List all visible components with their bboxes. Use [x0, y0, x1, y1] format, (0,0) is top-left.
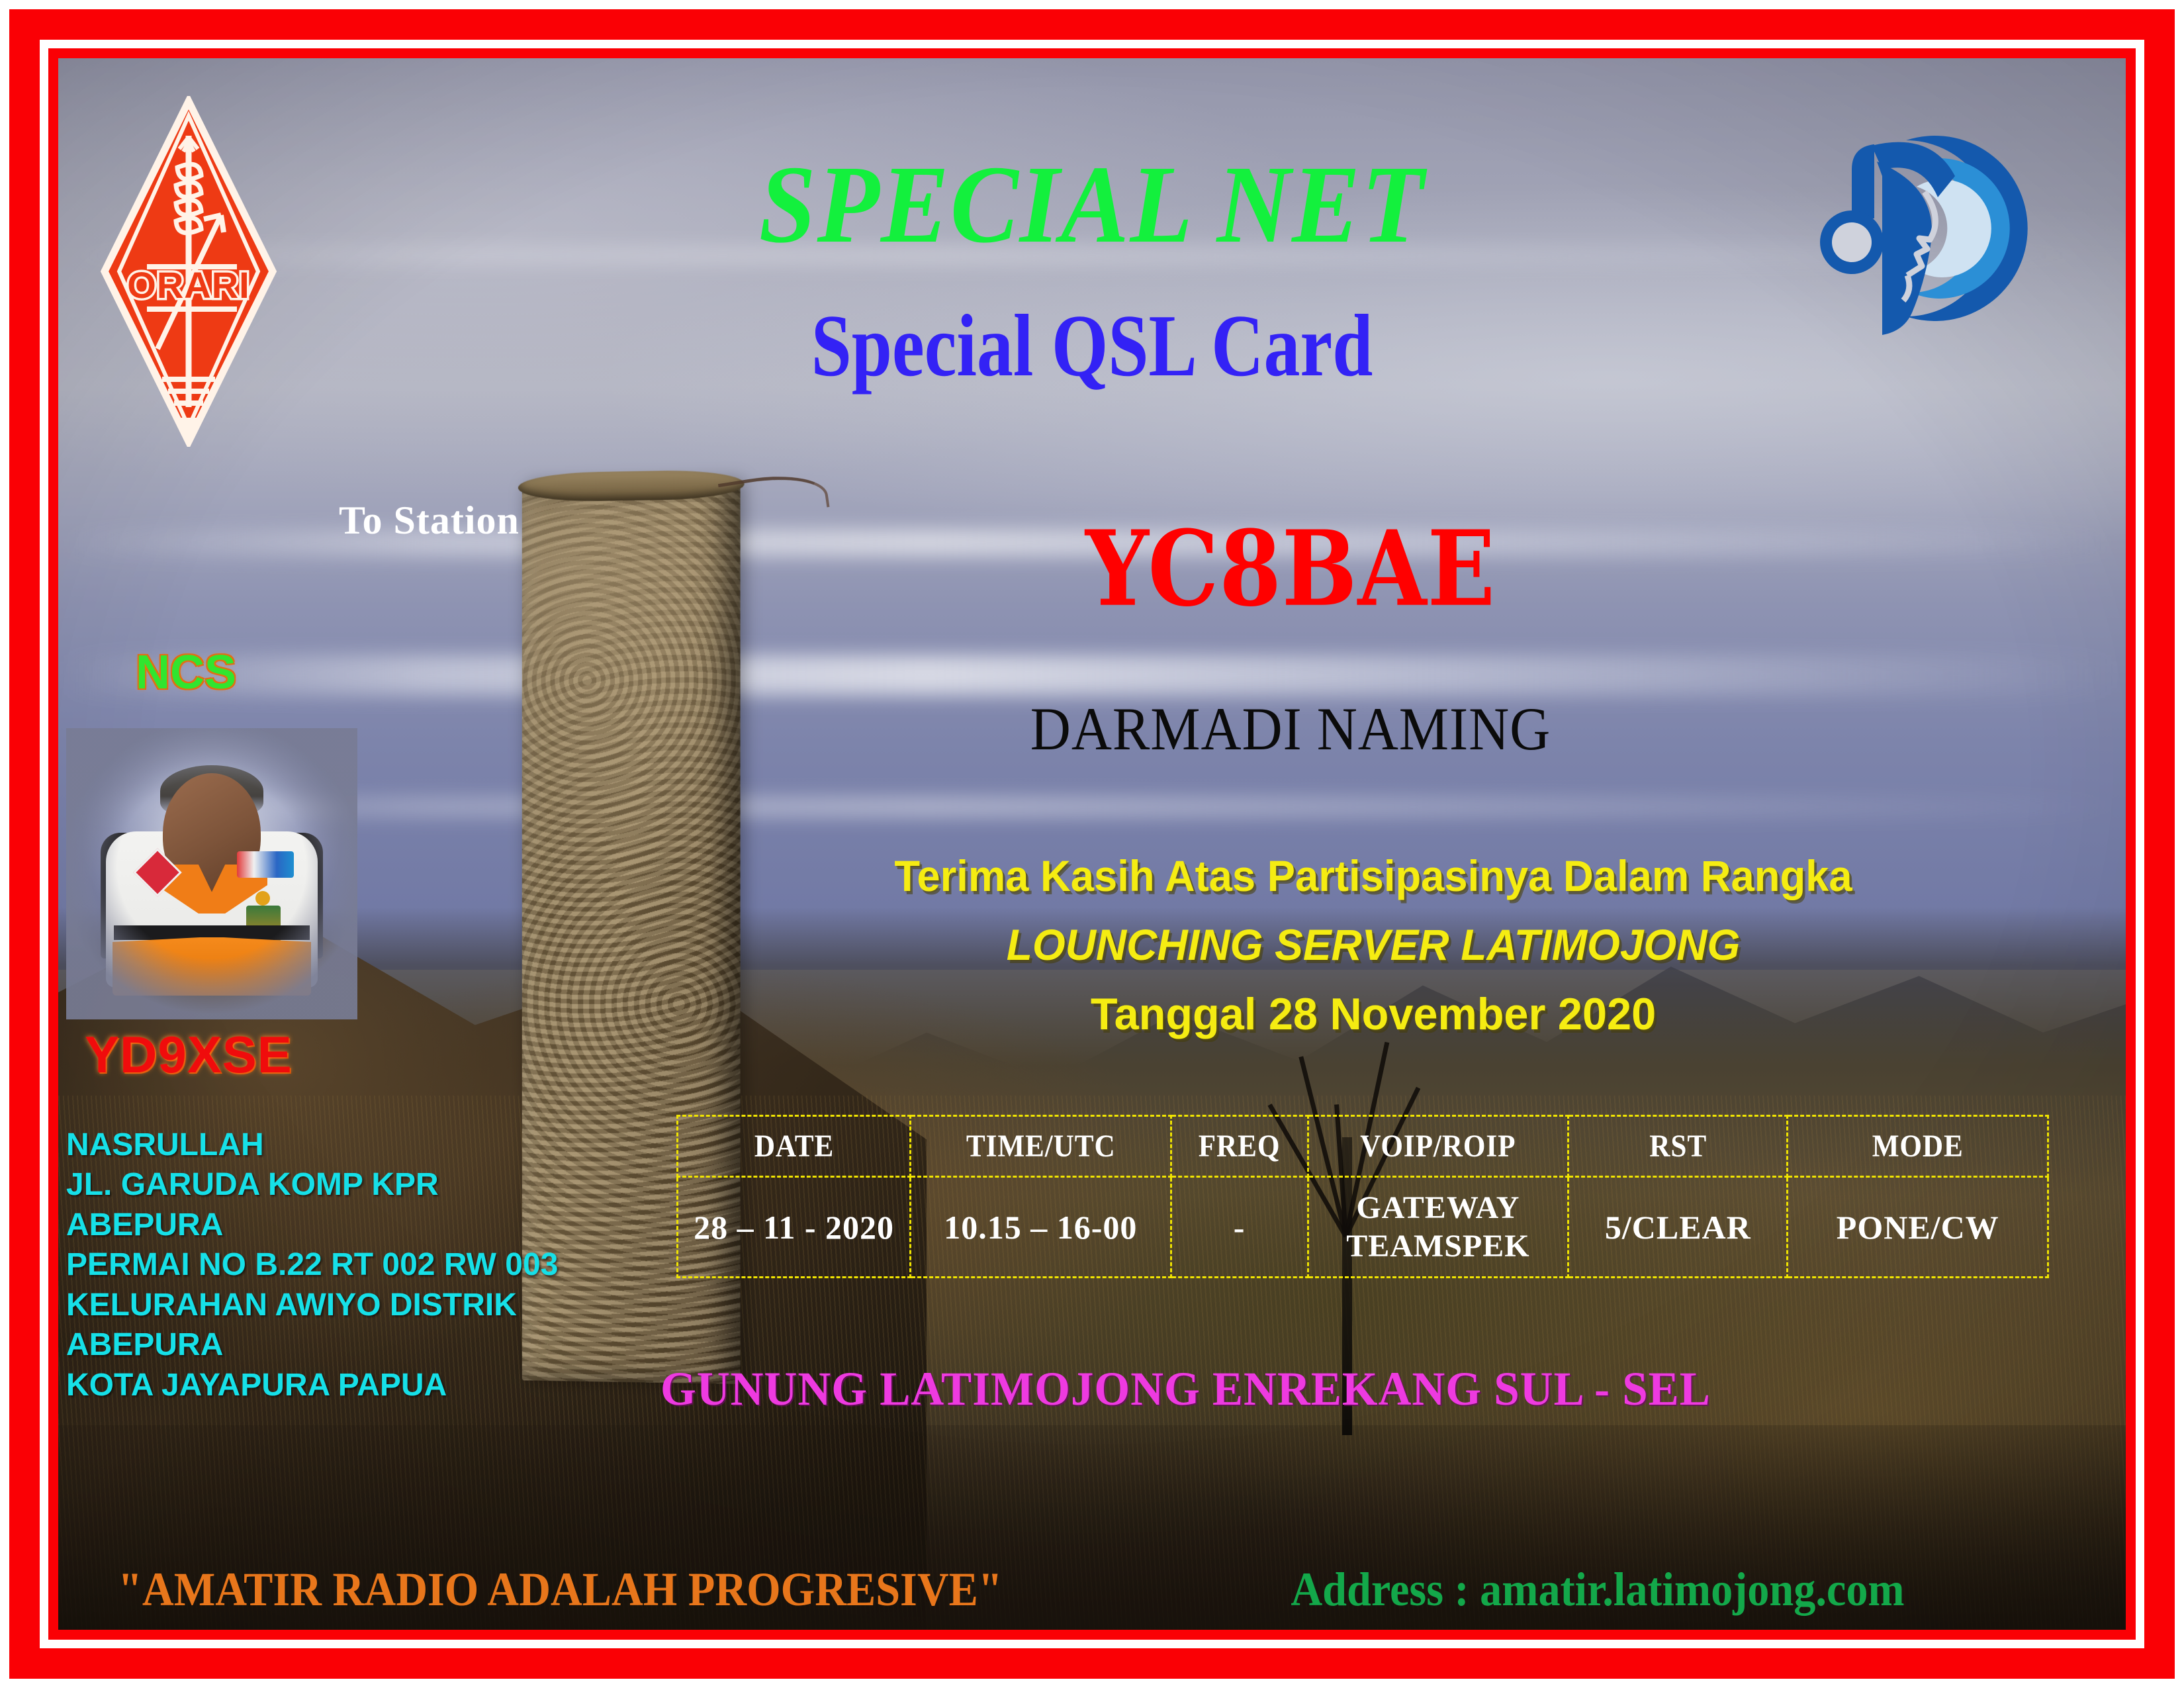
cell-date: 28 – 11 - 2020: [678, 1177, 911, 1278]
table-header-row: DATE TIME/UTC FREQ VOIP/ROIP RST MODE: [678, 1116, 2048, 1177]
svg-text:ORARI: ORARI: [127, 264, 250, 306]
page-title: SPECIAL NET: [514, 149, 1670, 260]
event-thanks-text: Terima Kasih Atas Partisipasinya Dalam R…: [722, 854, 2025, 898]
footer-slogan: "AMATIR RADIO ADALAH PROGRESIVE": [118, 1566, 1003, 1613]
recipient-operator-name: DARMADI NAMING: [858, 698, 1723, 759]
address-block: NASRULLAH JL. GARUDA KOMP KPR ABEPURA PE…: [66, 1125, 609, 1405]
column-header-time: TIME/UTC: [923, 1116, 1158, 1177]
cell-rst: 5/CLEAR: [1569, 1177, 1788, 1278]
cell-voip-roip: GATEWAY TEAMSPEK: [1308, 1177, 1568, 1278]
cell-freq: -: [1171, 1177, 1308, 1278]
column-header-rst: RST: [1579, 1116, 1776, 1177]
address-line: KOTA JAYAPURA PAPUA: [66, 1366, 609, 1405]
column-header-freq: FREQ: [1177, 1116, 1300, 1177]
page-subtitle: Special QSL Card: [576, 301, 1608, 390]
portrait-vignette: [66, 728, 357, 1019]
operator-portrait-photo: [66, 728, 357, 1019]
address-line: ABEPURA: [66, 1325, 609, 1365]
recipient-callsign: YC8BAE: [878, 518, 1704, 622]
qsl-card: ORARI SPECIAL NET Speci: [0, 0, 2184, 1688]
address-line: NASRULLAH: [66, 1125, 609, 1165]
address-line: PERMAI NO B.22 RT 002 RW 003: [66, 1245, 609, 1285]
column-header-voip-roip: VOIP/ROIP: [1321, 1116, 1555, 1177]
footer-address: Address : amatir.latimojong.com: [1291, 1566, 1904, 1613]
event-name-text: LOUNCHING SERVER LATIMOJONG: [715, 923, 2032, 966]
cell-mode: PONE/CW: [1788, 1177, 2048, 1278]
cell-voip-line-1: GATEWAY: [1312, 1189, 1565, 1227]
column-header-mode: MODE: [1801, 1116, 2035, 1177]
location-text: GUNUNG LATIMOJONG ENREKANG SUL - SEL: [660, 1365, 1868, 1413]
to-station-label: To Station: [339, 498, 520, 543]
cell-time: 10.15 – 16-00: [911, 1177, 1171, 1278]
table-row: 28 – 11 - 2020 10.15 – 16-00 - GATEWAY T…: [678, 1177, 2048, 1278]
address-line: KELURAHAN AWIYO DISTRIK: [66, 1286, 609, 1325]
radio-net-logo: [1813, 113, 2045, 344]
cell-voip-line-2: TEAMSPEK: [1312, 1227, 1565, 1266]
orari-logo: ORARI: [99, 96, 278, 447]
address-line: JL. GARUDA KOMP KPR: [66, 1165, 609, 1205]
address-line: ABEPURA: [66, 1205, 609, 1245]
ncs-label: NCS: [136, 645, 236, 700]
event-date-text: Tanggal 28 November 2020: [709, 992, 2038, 1037]
qso-log-table: DATE TIME/UTC FREQ VOIP/ROIP RST MODE 28…: [676, 1115, 2049, 1278]
column-header-date: DATE: [689, 1116, 899, 1177]
ncs-callsign: YD9XSE: [85, 1025, 293, 1085]
overlay-layer: ORARI SPECIAL NET Speci: [0, 0, 2184, 1688]
